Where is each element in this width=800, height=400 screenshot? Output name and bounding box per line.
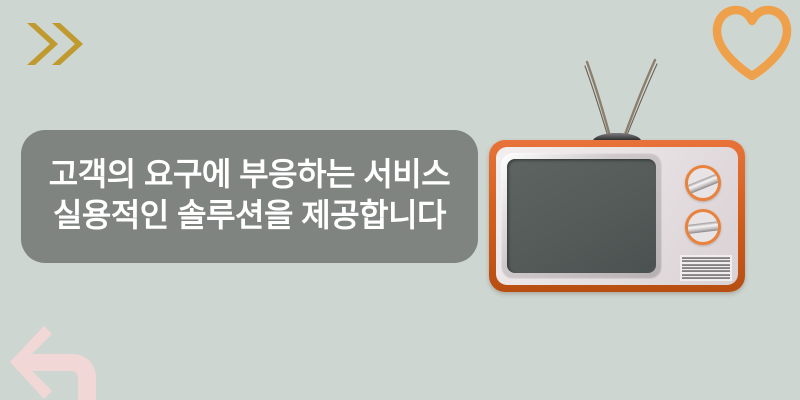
headline-line-2: 실용적인 솔루션을 제공합니다 xyxy=(53,195,446,236)
tv-knob-channel[interactable] xyxy=(685,165,721,201)
retro-television-illustration xyxy=(489,48,747,292)
tv-knob-volume[interactable] xyxy=(685,209,721,245)
reply-arrow-icon xyxy=(6,318,102,400)
headline-line-1: 고객의 요구에 부응하는 서비스 xyxy=(49,154,450,195)
tv-screen-bezel xyxy=(501,153,662,279)
knob-slot xyxy=(685,171,721,196)
double-chevron-icon xyxy=(25,19,85,69)
promo-banner: 고객의 요구에 부응하는 서비스 실용적인 솔루션을 제공합니다 xyxy=(0,0,800,400)
knob-slot xyxy=(685,220,721,234)
tv-screen xyxy=(507,159,656,273)
antenna-icon xyxy=(489,48,747,153)
tv-front-panel xyxy=(496,147,738,285)
tv-body xyxy=(489,140,745,292)
headline-plate: 고객의 요구에 부응하는 서비스 실용적인 솔루션을 제공합니다 xyxy=(21,130,478,263)
tv-speaker-grille xyxy=(680,255,732,281)
